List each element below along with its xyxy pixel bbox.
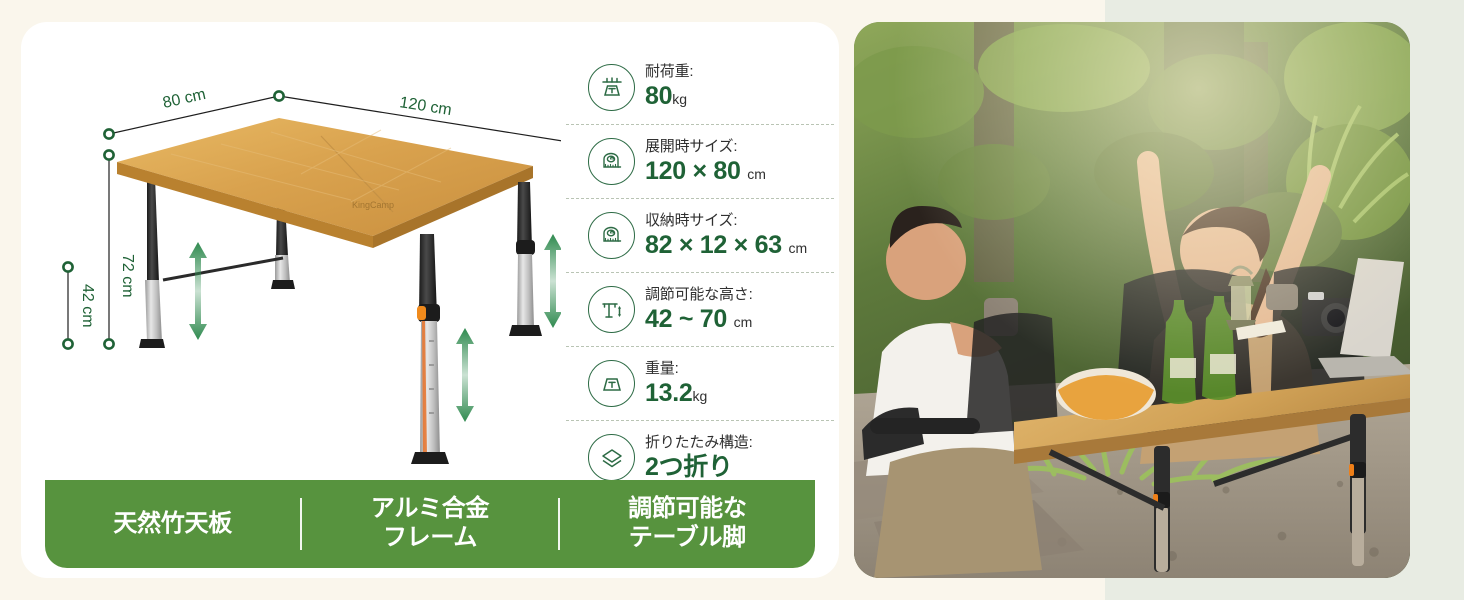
feature-line-2: フレーム [371, 524, 489, 553]
spec-value: 82 × 12 × 63 cm [645, 231, 807, 260]
feature-divider [300, 498, 302, 550]
spec-unit: cm [747, 166, 766, 182]
spec-text: 収納時サイズ: 82 × 12 × 63 cm [645, 212, 807, 260]
spec-text: 耐荷重: 80kg [645, 63, 693, 111]
feature-line-1: アルミ合金 [371, 495, 489, 524]
height-adjust-arrow-right [544, 234, 561, 328]
spec-row-unfolded-size: 展開時サイズ: 120 × 80 cm [566, 124, 834, 198]
feature-bamboo-top: 天然竹天板 [45, 480, 300, 568]
spec-value: 120 × 80 cm [645, 157, 766, 186]
height-adjust-arrow-left [189, 242, 207, 340]
feature-adjustable-legs: 調節可能な テーブル脚 [560, 480, 815, 568]
spec-row-adjustable-height: 調節可能な高さ: 42 ~ 70 cm [566, 272, 834, 346]
spec-value: 80kg [645, 82, 693, 111]
tape-measure-icon [588, 138, 635, 185]
product-infographic-page: 80 cm 120 cm 72 cm 42 cm [0, 0, 1464, 600]
spec-text: 重量: 13.2kg [645, 360, 707, 408]
feature-aluminum-frame: アルミ合金 フレーム [302, 480, 557, 568]
adjustable-height-icon [588, 286, 635, 333]
feature-line-1: 調節可能な [628, 495, 747, 524]
spec-card: 80 cm 120 cm 72 cm 42 cm [21, 22, 839, 578]
spec-value: 2つ折り [645, 453, 753, 482]
spec-label: 折りたたみ構造: [645, 434, 753, 451]
feature-line-2: テーブル脚 [628, 524, 747, 553]
spec-unit: kg [672, 91, 687, 107]
spec-label: 展開時サイズ: [645, 138, 766, 155]
weight-icon [588, 360, 635, 407]
spec-row-load-capacity: 耐荷重: 80kg [566, 50, 834, 124]
layers-fold-icon [588, 434, 635, 481]
spec-label: 調節可能な高さ: [645, 286, 753, 303]
dim-label-depth: 80 cm [161, 86, 207, 112]
dim-label-width: 120 cm [398, 94, 452, 119]
spec-value: 13.2kg [645, 379, 707, 408]
front-right-leg [509, 182, 542, 336]
front-left-leg [411, 234, 449, 464]
spec-value: 42 ~ 70 cm [645, 305, 753, 334]
spec-row-weight: 重量: 13.2kg [566, 346, 834, 420]
load-capacity-icon [588, 64, 635, 111]
spec-label: 収納時サイズ: [645, 212, 807, 229]
bamboo-tabletop: KingCamp [117, 118, 533, 248]
height-adjust-arrow-center [456, 328, 474, 422]
spec-label: 耐荷重: [645, 63, 693, 80]
spec-row-folded-size: 収納時サイズ: 82 × 12 × 63 cm [566, 198, 834, 272]
spec-list: 耐荷重: 80kg [566, 42, 834, 497]
spec-unit: kg [692, 388, 707, 404]
product-illustration: 80 cm 120 cm 72 cm 42 cm [21, 22, 561, 492]
lifestyle-photo [854, 22, 1410, 578]
dim-label-height-min: 42 cm [79, 284, 96, 328]
spec-text: 折りたたみ構造: 2つ折り [645, 434, 753, 482]
feature-line-1: 天然竹天板 [113, 510, 232, 539]
spec-label: 重量: [645, 360, 707, 377]
feature-divider [558, 498, 560, 550]
brand-mark: KingCamp [352, 200, 394, 210]
spec-text: 調節可能な高さ: 42 ~ 70 cm [645, 286, 753, 334]
spec-text: 展開時サイズ: 120 × 80 cm [645, 138, 766, 186]
spec-unit: cm [734, 314, 753, 330]
spec-unit: cm [788, 240, 807, 256]
tape-measure-icon [588, 212, 635, 259]
dim-label-height-max: 72 cm [119, 254, 136, 298]
feature-bar: 天然竹天板 アルミ合金 フレーム 調節可能な テーブル脚 [45, 480, 815, 568]
